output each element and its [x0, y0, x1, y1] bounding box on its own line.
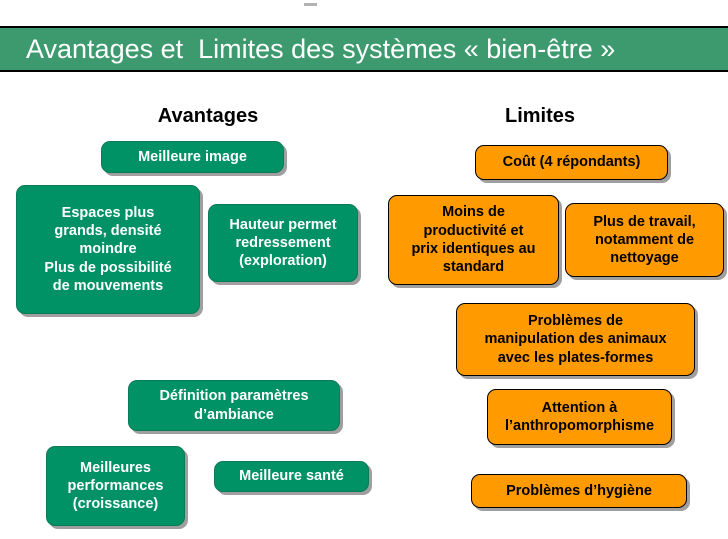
advantage-box-espaces-plus[interactable]: Espaces plus grands, densité moindre Plu…: [16, 185, 200, 314]
column-heading-limites: Limites: [460, 105, 620, 128]
advantage-box-hauteur-permet[interactable]: Hauteur permet redressement (exploration…: [208, 204, 358, 282]
limit-box-cout[interactable]: Coût (4 répondants): [475, 145, 668, 180]
advantage-box-meilleures-performances[interactable]: Meilleures performances (croissance): [46, 446, 185, 526]
slide-title-banner: Avantages et Limites des systèmes « bien…: [0, 26, 728, 72]
limit-box-moins-productivite[interactable]: Moins de productivité et prix identiques…: [388, 195, 559, 285]
page-title: Avantages et Limites des systèmes « bien…: [0, 36, 615, 63]
column-heading-avantages: Avantages: [108, 105, 308, 128]
limit-box-problemes-hygiene[interactable]: Problèmes d’hygiène: [471, 474, 687, 508]
advantage-box-meilleure-sante[interactable]: Meilleure santé: [214, 461, 369, 492]
advantage-box-meilleure-image[interactable]: Meilleure image: [101, 141, 284, 173]
limit-box-attention-anthropomorphisme[interactable]: Attention à l’anthropomorphisme: [487, 389, 672, 445]
advantage-box-definition-parametres[interactable]: Définition paramètres d’ambiance: [128, 380, 340, 431]
limit-box-problemes-manipulation[interactable]: Problèmes de manipulation des animaux av…: [456, 303, 695, 376]
limit-box-plus-de-travail[interactable]: Plus de travail, notamment de nettoyage: [565, 203, 724, 277]
top-artifact-mark: [304, 3, 317, 6]
slide-canvas: Avantages et Limites des systèmes « bien…: [0, 0, 728, 539]
